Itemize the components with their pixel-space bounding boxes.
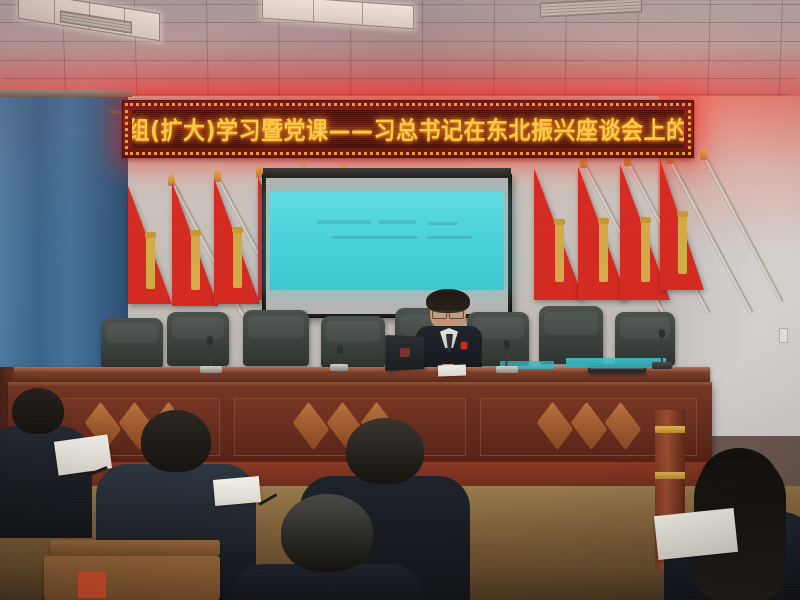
desk-pad xyxy=(566,358,666,368)
flag-tassel xyxy=(555,223,564,282)
seat-number-tag xyxy=(78,572,106,598)
executive-chair xyxy=(167,312,229,366)
tassel-cap xyxy=(190,230,201,236)
laptop-lid xyxy=(385,335,425,371)
bench-seat xyxy=(44,556,220,600)
executive-chair xyxy=(539,306,603,364)
projected-image-area xyxy=(270,192,504,290)
executive-chair xyxy=(243,310,309,366)
flag-tassel xyxy=(146,236,155,289)
attendee-head xyxy=(12,388,64,434)
open-laptop xyxy=(386,336,428,374)
tassel-cap xyxy=(598,218,609,224)
flag-tassel xyxy=(599,222,608,282)
tassel-cap xyxy=(232,227,243,233)
glasses-icon xyxy=(432,308,464,317)
bench-seat xyxy=(50,540,220,556)
laptop-logo-icon xyxy=(400,348,410,357)
party-flag xyxy=(660,160,730,310)
banner-screen: 中心组(扩大)学习暨党课——习总书记在东北振兴座谈会上的讲话 xyxy=(132,110,684,148)
note-paper xyxy=(654,508,738,560)
banner-text: 中心组(扩大)学习暨党课——习总书记在东北振兴座谈会上的讲话 xyxy=(132,112,684,147)
screen-roller-housing xyxy=(263,168,511,175)
table-rail xyxy=(8,382,712,388)
flag-tassel xyxy=(678,215,687,274)
curtain-rail xyxy=(0,90,132,97)
executive-chair xyxy=(321,316,385,368)
attendee-head xyxy=(346,418,424,484)
flag-tassel xyxy=(641,221,650,282)
tassel-cap xyxy=(554,219,565,225)
flag-tassel xyxy=(233,231,242,288)
flag-tassel xyxy=(191,234,200,290)
attendee-head xyxy=(281,494,373,572)
document-paper xyxy=(438,365,466,377)
tassel-cap xyxy=(677,211,688,217)
tassel-cap xyxy=(640,217,651,223)
note-paper xyxy=(213,476,261,506)
led-banner: 中心组(扩大)学习暨党课——习总书记在东北振兴座谈会上的讲话 xyxy=(122,100,694,158)
executive-chair xyxy=(101,318,163,368)
flag-finial-icon xyxy=(700,148,707,160)
tassel-cap xyxy=(145,232,156,238)
conference-room-photo: 中心组(扩大)学习暨党课——习总书记在东北振兴座谈会上的讲话 xyxy=(0,0,800,600)
attendee-head xyxy=(141,410,211,472)
attendee-4 xyxy=(232,494,422,600)
light-switch[interactable] xyxy=(779,328,788,343)
lapel-badge xyxy=(461,342,467,349)
